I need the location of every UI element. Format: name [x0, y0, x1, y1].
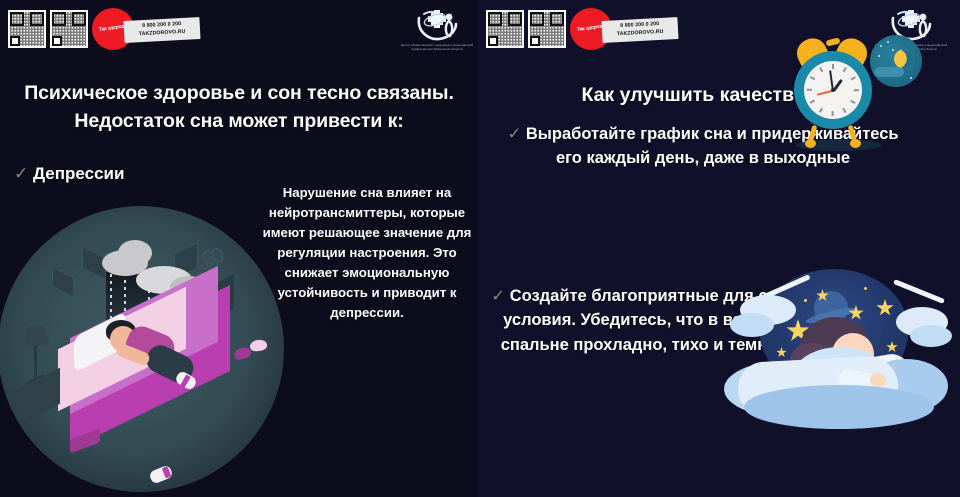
heading-line-1: Психическое здоровье и сон тесно связаны…	[0, 80, 478, 108]
lamp-icon	[23, 326, 49, 346]
clock-center-pin	[831, 88, 835, 92]
check-icon: ✓	[491, 284, 505, 308]
slipper-icon	[249, 339, 267, 352]
check-icon: ✓	[507, 122, 521, 146]
sleeping-woman-illustration	[714, 255, 960, 445]
panel-left: Так здорово 8 800 200 0 200 TAKZDOROVO.R…	[0, 0, 478, 497]
heading-line-2: Недостаток сна может привести к:	[0, 108, 478, 136]
paragraph-neurotransmitters: Нарушение сна влияет на нейротрансмиттер…	[258, 183, 476, 323]
qr-code-icon[interactable]	[486, 10, 524, 48]
medical-cross-logo-icon	[415, 8, 459, 42]
phone-bar: 8 800 200 0 200 TAKZDOROVO.RU	[123, 17, 200, 43]
cloud-streak	[893, 279, 945, 304]
qr-code-icon[interactable]	[528, 10, 566, 48]
header-left: Так здорово 8 800 200 0 200 TAKZDOROVO.R…	[0, 0, 478, 62]
qr-code-icon[interactable]	[50, 10, 88, 48]
org-caption: Центр общественного здоровья и медицинск…	[400, 43, 474, 52]
hand	[870, 373, 886, 387]
org-logo: Центр общественного здоровья и медицинск…	[400, 8, 474, 58]
cloud	[744, 385, 934, 429]
thought-bubble-night	[870, 35, 922, 87]
panel-right: Так здорово 8 800 200 0 200 TAKZDOROVO.R…	[478, 0, 960, 497]
clock-foot	[805, 139, 816, 148]
depressed-woman-illustration	[0, 206, 284, 492]
phone-bar: 8 800 200 0 200 TAKZDOROVO.RU	[601, 17, 678, 43]
cloud-wisp	[910, 325, 952, 347]
bullet-depression: ✓ Депрессии	[14, 164, 124, 184]
fallen-sock	[148, 464, 173, 484]
rain-cloud-icon	[118, 240, 152, 266]
clock-face	[804, 61, 862, 119]
clock-foot	[850, 139, 861, 148]
cloud-icon	[874, 67, 904, 77]
site-url: TAKZDOROVO.RU	[617, 29, 664, 39]
plant-icon	[200, 248, 226, 270]
lamp-stem	[34, 346, 37, 380]
bullet-label: Депрессии	[33, 164, 124, 183]
check-icon: ✓	[14, 164, 28, 184]
qr-code-icon[interactable]	[8, 10, 46, 48]
alarm-clock-illustration	[790, 33, 930, 149]
picture-frame-icon	[52, 267, 74, 298]
cloud-wisp	[730, 313, 774, 337]
poster: Так здорово 8 800 200 0 200 TAKZDOROVO.R…	[0, 0, 960, 497]
site-url: TAKZDOROVO.RU	[139, 29, 186, 39]
page-title-left: Психическое здоровье и сон тесно связаны…	[0, 80, 478, 135]
